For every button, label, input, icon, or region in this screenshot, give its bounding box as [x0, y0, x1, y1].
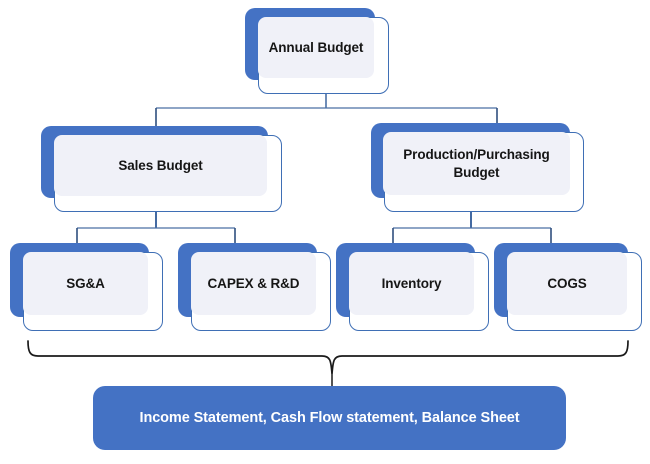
edge-leaves-bracket [28, 341, 628, 374]
node-capex-and-rd[interactable]: CAPEX & R&D [178, 243, 331, 331]
node-label: CAPEX & R&D [204, 275, 304, 292]
node-face: SG&A [23, 252, 148, 315]
node-financial-statements[interactable]: Income Statement, Cash Flow statement, B… [93, 386, 566, 450]
node-face: Inventory [349, 252, 474, 315]
node-inventory[interactable]: Inventory [336, 243, 489, 331]
node-label: Annual Budget [265, 39, 368, 56]
node-label: Sales Budget [114, 157, 206, 174]
node-label: Production/Purchasing Budget [399, 146, 553, 181]
node-annual-budget[interactable]: Annual Budget [245, 8, 389, 94]
node-face: Production/Purchasing Budget [383, 132, 570, 195]
node-sga[interactable]: SG&A [10, 243, 163, 331]
node-cogs[interactable]: COGS [494, 243, 642, 331]
node-label: COGS [543, 275, 590, 292]
node-face: CAPEX & R&D [191, 252, 316, 315]
node-face: Annual Budget [258, 17, 374, 78]
node-face: COGS [507, 252, 627, 315]
node-production-purchasing-budget[interactable]: Production/Purchasing Budget [371, 123, 584, 212]
node-label: SG&A [62, 275, 109, 292]
node-sales-budget[interactable]: Sales Budget [41, 126, 282, 212]
node-label: Income Statement, Cash Flow statement, B… [140, 410, 520, 426]
node-label: Inventory [378, 275, 446, 292]
node-face: Sales Budget [54, 135, 267, 196]
budget-hierarchy-diagram: Annual Budget Sales Budget Production/Pu… [0, 0, 650, 464]
